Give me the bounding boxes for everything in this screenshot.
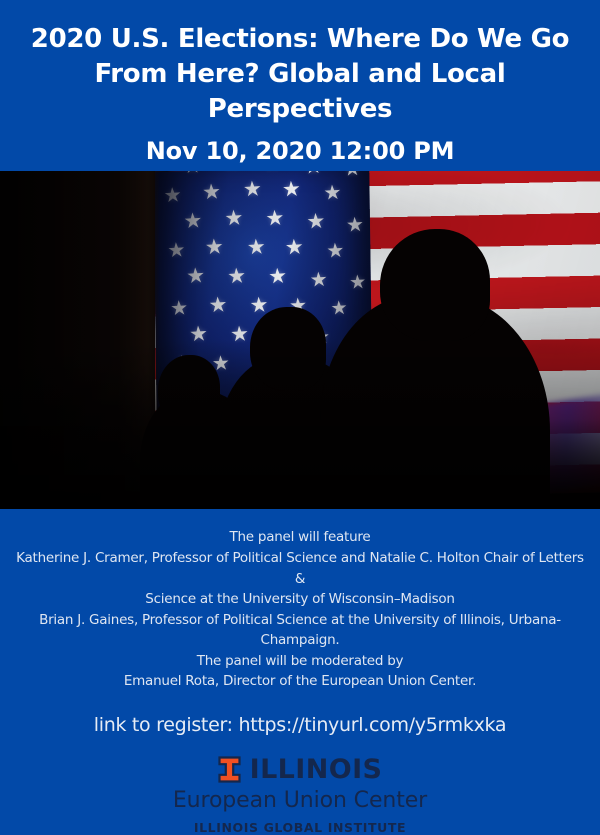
panel-line: Katherine J. Cramer, Professor of Politi… (14, 548, 586, 589)
poster-header: 2020 U.S. Elections: Where Do We Go From… (0, 0, 600, 171)
logo-wordmark-text: ILLINOIS (250, 756, 383, 783)
logo-unit-name: European Union Center (14, 789, 586, 813)
event-date: Nov 10, 2020 12:00 PM (28, 137, 572, 165)
logo-parent-name: ILLINOIS GLOBAL INSTITUTE (14, 820, 586, 835)
block-i-icon (218, 756, 241, 783)
logo-wordmark-row: ILLINOIS (14, 756, 586, 783)
illinois-logo: ILLINOIS European Union Center ILLINOIS … (14, 756, 586, 835)
panel-line: The panel will be moderated by (14, 651, 586, 672)
page-title: 2020 U.S. Elections: Where Do We Go From… (28, 22, 572, 126)
panel-line: Science at the University of Wisconsin–M… (14, 589, 586, 610)
registration-link[interactable]: link to register: https://tinyurl.com/y5… (14, 714, 586, 736)
panel-line: Brian J. Gaines, Professor of Political … (14, 610, 586, 651)
photo-vignette (0, 171, 600, 509)
event-poster: 2020 U.S. Elections: Where Do We Go From… (0, 0, 600, 800)
panel-line: The panel will feature (14, 527, 586, 548)
flag-silhouette-image: ★ ★ ★ ★ ★ ★ ★ ★ ★ ★ ★ ★ ★ ★ ★ ★ ★ ★ ★ ★ (0, 171, 600, 509)
panel-description: The panel will feature Katherine J. Cram… (0, 509, 600, 834)
panel-line: Emanuel Rota, Director of the European U… (14, 671, 586, 692)
